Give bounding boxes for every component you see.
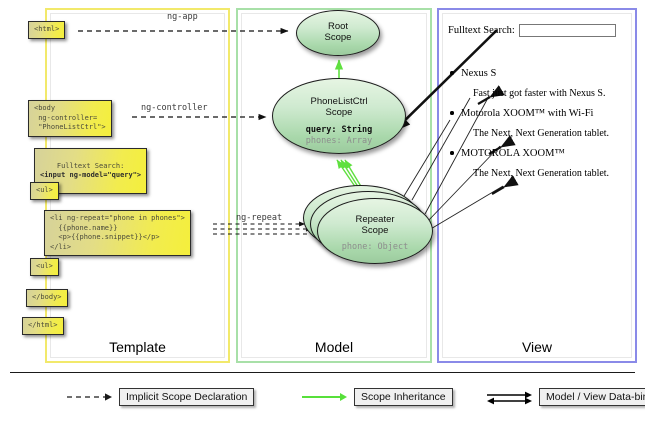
code-box-ul-close[interactable]: <ul> bbox=[30, 258, 59, 276]
code-box-html-close[interactable]: </html> bbox=[22, 317, 64, 335]
phone-snippet: Fast just got faster with Nexus S. bbox=[473, 87, 633, 100]
legend-label: Scope Inheritance bbox=[354, 388, 453, 406]
panel-model: Model bbox=[236, 8, 432, 363]
legend-item-scope-inheritance: Scope Inheritance bbox=[300, 388, 453, 406]
view-rendered-output: Fulltext Search: Nexus S Fast just got f… bbox=[441, 12, 633, 342]
bullet-icon bbox=[450, 111, 454, 115]
code-box-body-close[interactable]: </body> bbox=[26, 289, 68, 307]
legend-item-implicit-scope-declaration: Implicit Scope Declaration bbox=[65, 388, 254, 406]
code-box-ul-open[interactable]: <ul> bbox=[30, 182, 59, 200]
phone-list: Nexus S Fast just got faster with Nexus … bbox=[461, 67, 633, 187]
scope-root[interactable]: Root Scope bbox=[296, 10, 380, 56]
scope-repeater-line2: Scope bbox=[318, 225, 432, 236]
scope-var-phone: phone: Object bbox=[318, 242, 432, 253]
bullet-icon bbox=[450, 151, 454, 155]
phone-snippet: The Next, Next Generation tablet. bbox=[473, 167, 633, 180]
list-item[interactable]: Nexus S Fast just got faster with Nexus … bbox=[461, 67, 633, 100]
edge-label-ng-repeat: ng-repeat bbox=[236, 213, 282, 223]
phone-name: Nexus S bbox=[461, 67, 633, 80]
search-label: Fulltext Search: bbox=[448, 25, 515, 36]
panel-model-label: Model bbox=[238, 339, 430, 355]
legend-swatch-double-arrow bbox=[485, 390, 533, 404]
legend-swatch-dashed-arrow bbox=[65, 390, 113, 404]
scope-repeater-vars: phone: Object bbox=[318, 242, 432, 253]
scope-phonelistctrl[interactable]: PhoneListCtrl Scope query: String phones… bbox=[272, 78, 406, 154]
list-item[interactable]: MOTOROLA XOOM™ The Next, Next Generation… bbox=[461, 147, 633, 180]
edge-label-ng-app: ng-app bbox=[167, 12, 198, 22]
legend-label: Model / View Data-binding bbox=[539, 388, 645, 406]
search-input[interactable] bbox=[519, 24, 616, 37]
edge-label-ng-controller: ng-controller bbox=[141, 103, 208, 113]
search-box-line2: <input ng-model="query"> bbox=[40, 171, 141, 179]
scope-ctrl-line1: PhoneListCtrl bbox=[273, 96, 405, 107]
view-search-row: Fulltext Search: bbox=[448, 24, 616, 37]
panel-template-label: Template bbox=[47, 339, 228, 355]
phone-name: Motorola XOOM™ with Wi-Fi bbox=[461, 107, 633, 120]
legend-swatch-green-arrow bbox=[300, 390, 348, 404]
scope-repeater-line1: Repeater bbox=[318, 214, 432, 225]
panel-model-inner bbox=[241, 13, 427, 358]
scope-root-line2: Scope bbox=[297, 32, 379, 43]
scope-root-line1: Root bbox=[297, 21, 379, 32]
list-item[interactable]: Motorola XOOM™ with Wi-Fi The Next, Next… bbox=[461, 107, 633, 140]
diagram-canvas: Template Model View bbox=[0, 0, 645, 425]
legend-label: Implicit Scope Declaration bbox=[119, 388, 254, 406]
legend: Implicit Scope Declaration Scope Inherit… bbox=[10, 372, 635, 418]
scope-ctrl-line2: Scope bbox=[273, 107, 405, 118]
scope-repeater[interactable]: Repeater Scope phone: Object bbox=[317, 198, 433, 264]
code-box-li-repeat[interactable]: <li ng-repeat="phone in phones"> {{phone… bbox=[44, 210, 191, 256]
phone-name: MOTOROLA XOOM™ bbox=[461, 147, 633, 160]
scope-var-phones: phones: Array bbox=[273, 136, 405, 147]
search-box-line1: Fulltext Search: bbox=[57, 162, 124, 170]
phone-snippet: The Next, Next Generation tablet. bbox=[473, 127, 633, 140]
legend-item-model-view-data-binding: Model / View Data-binding bbox=[485, 388, 645, 406]
scope-ctrl-vars: query: String phones: Array bbox=[273, 125, 405, 146]
scope-var-query: query: String bbox=[273, 125, 405, 136]
bullet-icon bbox=[450, 71, 454, 75]
code-box-html-open[interactable]: <html> bbox=[28, 21, 65, 39]
code-box-body-open[interactable]: <body ng-controller= "PhoneListCtrl"> bbox=[28, 100, 112, 137]
